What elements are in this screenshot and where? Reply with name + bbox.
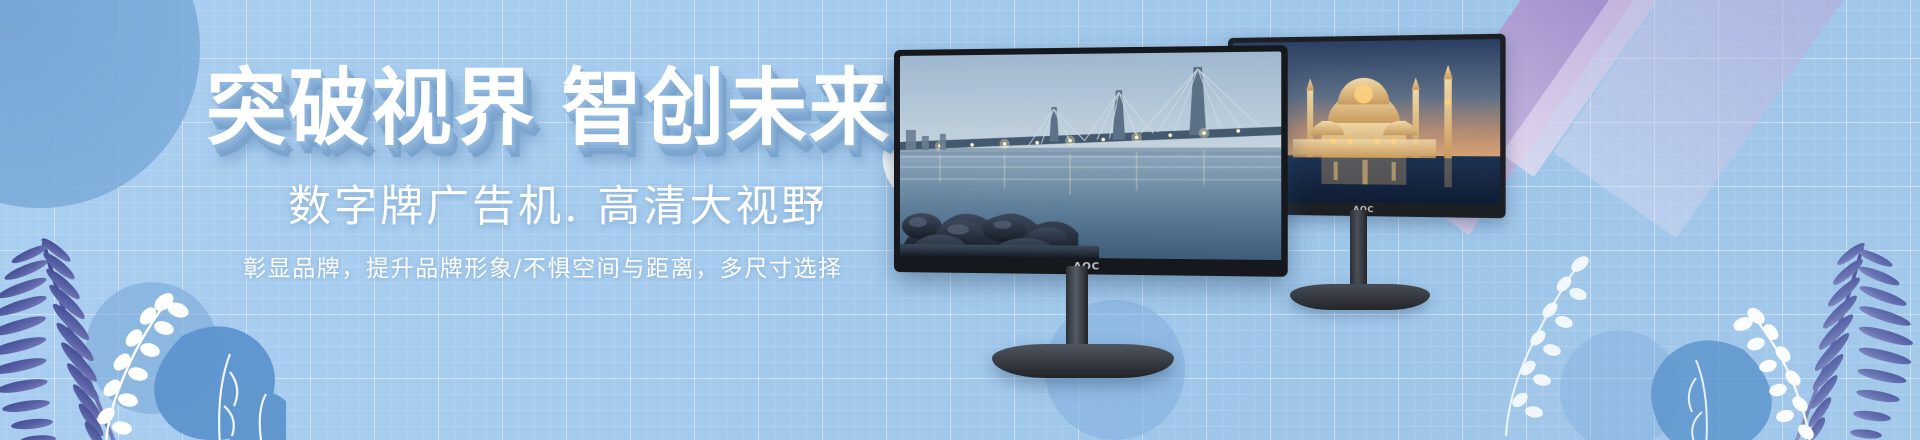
- copy-block: 突破视界智创未来 数字牌广告机. 高清大视野 彰显品牌，提升品牌形象/不惧空间与…: [0, 0, 900, 440]
- monitor-front-bezel: AOC: [894, 45, 1288, 277]
- diagonal-band-inner: [1501, 0, 1775, 177]
- monitor-front-stand-base: [992, 344, 1174, 378]
- subheading: 数字牌广告机. 高清大视野: [288, 186, 827, 229]
- product-images: AOC: [880, 0, 1540, 440]
- monitor-front-stand-neck: [1066, 266, 1088, 354]
- page-title: 突破视界智创未来: [206, 66, 891, 150]
- promo-banner: 突破视界智创未来 数字牌广告机. 高清大视野 彰显品牌，提升品牌形象/不惧空间与…: [0, 0, 1920, 440]
- tagline: 彰显品牌，提升品牌形象/不惧空间与距离，多尺寸选择: [243, 258, 843, 281]
- monitor-back-stand-neck: [1350, 210, 1367, 292]
- monitor-back-stand-base: [1290, 284, 1430, 310]
- foliage-right-icon: [1624, 190, 1920, 440]
- headline-part-2: 智创未来: [561, 59, 891, 157]
- monitor-front-logo: AOC: [894, 256, 1288, 277]
- diagonal-band-outer: [1553, 0, 1920, 238]
- monitor-front-screen: [900, 51, 1281, 260]
- headline-part-1: 突破视界: [206, 59, 536, 157]
- decor-circle-bottom-right: [1560, 330, 1680, 440]
- monitor-front: AOC: [894, 50, 1274, 380]
